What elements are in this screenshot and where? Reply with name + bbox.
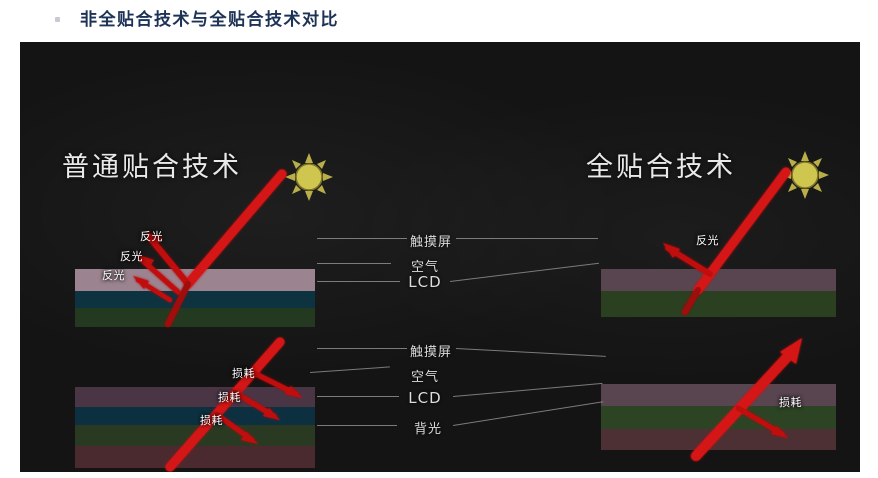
mid-label-lcd: LCD bbox=[408, 389, 441, 407]
callout-loss: 损耗 bbox=[232, 365, 255, 381]
slide-page: 非全贴合技术与全贴合技术对比 普通贴合技术 全贴合技术 bbox=[0, 0, 878, 478]
layer-touch-panel bbox=[75, 387, 315, 407]
callout-loss: 损耗 bbox=[200, 412, 223, 428]
connector-line bbox=[317, 281, 400, 282]
mid-label-air-gap: 空气 bbox=[411, 366, 439, 385]
callout-loss: 损耗 bbox=[779, 394, 802, 410]
layer-air-gap bbox=[75, 291, 315, 308]
connector-line bbox=[456, 348, 606, 357]
left-bottom-layer-stack bbox=[75, 387, 315, 468]
connector-line bbox=[453, 401, 603, 426]
layer-backlight bbox=[601, 429, 836, 450]
callout-reflection: 反光 bbox=[696, 232, 719, 248]
comparison-figure: 普通贴合技术 全贴合技术 bbox=[20, 42, 860, 472]
layer-touch-panel bbox=[601, 269, 836, 291]
connector-line bbox=[317, 396, 399, 397]
callout-reflection: 反光 bbox=[102, 267, 125, 283]
layer-backlight bbox=[75, 446, 315, 468]
connector-line bbox=[310, 366, 390, 373]
layer-lcd bbox=[601, 291, 836, 317]
sun-icon bbox=[284, 152, 334, 202]
callout-loss: 损耗 bbox=[218, 389, 241, 405]
connector-line bbox=[317, 238, 407, 239]
layer-air-gap bbox=[75, 407, 315, 425]
right-top-layer-stack bbox=[601, 269, 836, 317]
connector-line bbox=[317, 425, 397, 426]
callout-reflection: 反光 bbox=[120, 248, 143, 264]
mid-label-touch-panel: 触摸屏 bbox=[410, 341, 452, 360]
mid-label-lcd: LCD bbox=[408, 273, 441, 291]
sun-icon bbox=[780, 150, 830, 200]
callout-reflection: 反光 bbox=[140, 228, 163, 244]
connector-line bbox=[453, 383, 603, 397]
slide-header: 非全贴合技术与全贴合技术对比 bbox=[0, 0, 878, 40]
connector-line bbox=[317, 348, 407, 349]
layer-lcd bbox=[75, 308, 315, 327]
mid-label-backlight: 背光 bbox=[414, 418, 442, 437]
connector-line bbox=[456, 238, 598, 239]
bullet-icon bbox=[55, 17, 60, 22]
left-panel-title: 普通贴合技术 bbox=[62, 145, 242, 184]
figure-canvas: 普通贴合技术 全贴合技术 bbox=[20, 42, 860, 472]
mid-label-touch-panel: 触摸屏 bbox=[410, 231, 452, 250]
page-title: 非全贴合技术与全贴合技术对比 bbox=[80, 5, 339, 30]
right-panel-title: 全贴合技术 bbox=[586, 145, 736, 184]
layer-lcd bbox=[75, 425, 315, 446]
connector-line bbox=[317, 263, 391, 264]
connector-line bbox=[450, 263, 599, 282]
